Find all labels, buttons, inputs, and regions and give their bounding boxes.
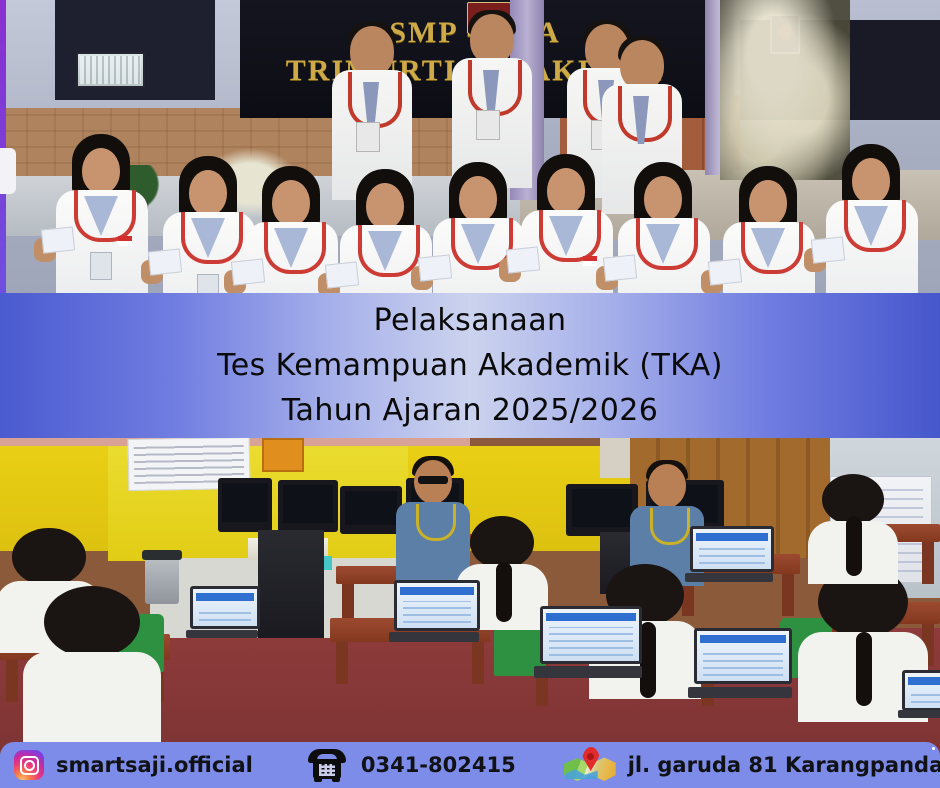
face: [852, 158, 890, 204]
lanyard: [650, 508, 690, 545]
laptop-base: [389, 632, 479, 642]
laptop-1: [190, 586, 254, 638]
laptop-4: [690, 526, 768, 582]
ponytail: [496, 562, 512, 622]
test-taker-2: [44, 586, 140, 736]
laptop-screen: [694, 628, 792, 684]
test-taker-5: [818, 566, 908, 716]
sunglasses-icon: [418, 476, 448, 484]
laptop-screen: [540, 606, 642, 664]
face: [272, 180, 310, 226]
instagram-icon[interactable]: [14, 750, 44, 780]
exam-card: [231, 258, 265, 285]
exam-card: [506, 246, 540, 273]
bottom-photo-computer-lab: [0, 438, 940, 788]
laptop-screen: [902, 670, 940, 711]
test-taker-6: [822, 474, 884, 580]
head: [350, 26, 394, 76]
wall-box: [262, 438, 304, 472]
laptop-base: [685, 573, 772, 582]
exam-card: [811, 236, 845, 263]
headline-line-1: Pelaksanaan: [374, 298, 567, 343]
desktop-tower-1: [258, 530, 324, 638]
face: [644, 176, 682, 222]
laptop-base: [898, 710, 940, 718]
head: [470, 14, 514, 64]
instagram-handle-text: smartsaji.official: [56, 753, 253, 777]
laptop-2: [394, 580, 474, 642]
id-badge: [90, 252, 112, 280]
laptop-6: [902, 670, 940, 718]
head: [44, 586, 140, 658]
face: [749, 180, 787, 226]
exam-card: [708, 258, 742, 285]
laptop-screen: [190, 586, 260, 629]
lab-monitor-5: [566, 484, 638, 536]
face: [547, 168, 585, 214]
head: [648, 464, 686, 508]
flag-patch: [118, 236, 132, 246]
exam-card: [148, 248, 182, 275]
photo-edge-highlight: [0, 148, 16, 194]
id-card: [476, 110, 500, 140]
contact-footer-bar: smartsaji.official 0341-802415 jl. garud…: [0, 742, 940, 788]
phone-foot-right: [332, 778, 340, 782]
ponytail: [846, 516, 862, 576]
exam-card: [603, 254, 637, 281]
crt-monitor-4: [218, 478, 272, 532]
phone-number-text: 0341-802415: [361, 753, 516, 777]
laptop-5: [694, 628, 786, 698]
exam-card: [41, 226, 75, 253]
laptop-screen: [690, 526, 774, 572]
uniform: [23, 652, 161, 742]
instagram-dot: [932, 747, 935, 750]
laptop-base: [688, 687, 791, 698]
ponytail: [856, 632, 872, 706]
laptop-3: [540, 606, 636, 678]
map-pin-icon[interactable]: [564, 747, 616, 783]
phone-contact[interactable]: 0341-802415: [253, 747, 516, 783]
decorative-tree: [720, 0, 850, 180]
head: [12, 528, 86, 586]
id-card: [356, 122, 380, 152]
crt-monitor-2: [340, 486, 402, 534]
id-badge: [197, 274, 219, 295]
exam-card: [325, 261, 359, 288]
ponytail: [640, 622, 656, 698]
face: [189, 170, 227, 216]
laptop-base: [534, 666, 642, 678]
phone-foot-left: [314, 778, 322, 782]
top-photo-students: SMP - SMA TRIMURTI 01 PAKISAJI: [0, 0, 940, 295]
face: [366, 183, 404, 229]
instagram-ring: [20, 756, 39, 775]
headline-line-3: Tahun Ajaran 2025/2026: [282, 388, 658, 433]
face: [459, 176, 497, 222]
head: [620, 40, 664, 90]
address-contact[interactable]: jl. garuda 81 Karangpandan - Pakisaji: [516, 747, 940, 783]
laptop-screen: [394, 580, 480, 631]
lanyard: [416, 504, 456, 541]
telephone-icon[interactable]: [305, 747, 349, 783]
building-window: [76, 52, 145, 88]
phone-keypad: [319, 764, 335, 776]
flag-patch: [583, 256, 597, 266]
headline-line-2: Tes Kemampuan Akademik (TKA): [217, 343, 723, 388]
headline-band: Pelaksanaan Tes Kemampuan Akademik (TKA)…: [0, 293, 940, 438]
poster-root: SMP - SMA TRIMURTI 01 PAKISAJI: [0, 0, 940, 788]
exam-card: [418, 254, 452, 281]
instagram-contact[interactable]: smartsaji.official: [0, 750, 253, 780]
address-text: jl. garuda 81 Karangpandan - Pakisaji: [628, 753, 940, 777]
crt-monitor-1: [278, 480, 338, 532]
trash-bin: [145, 558, 179, 604]
head: [470, 516, 534, 569]
face: [82, 148, 120, 194]
laptop-base: [186, 630, 258, 638]
